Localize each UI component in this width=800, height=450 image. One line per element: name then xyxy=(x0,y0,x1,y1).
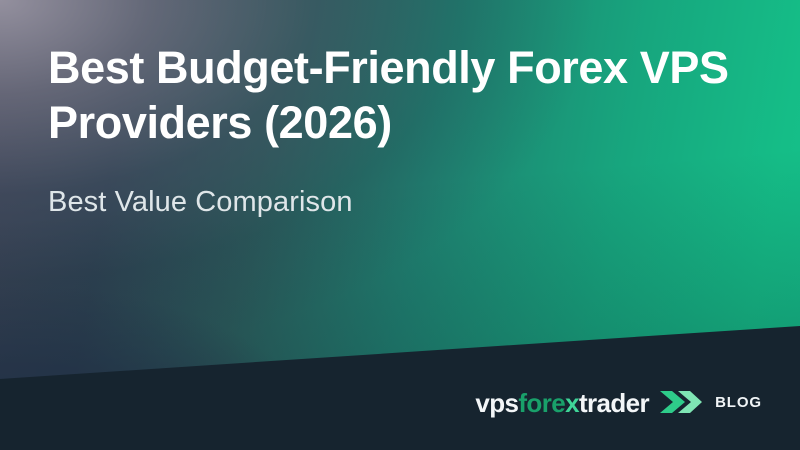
wordmark-fore: fore xyxy=(518,388,565,418)
wordmark-vps: vps xyxy=(475,388,518,418)
page-title: Best Budget-Friendly Forex VPS Providers… xyxy=(48,40,748,150)
wordmark-trader: trader xyxy=(579,388,649,418)
blog-header-banner: Best Budget-Friendly Forex VPS Providers… xyxy=(0,0,800,450)
brand-wordmark: vpsforextrader xyxy=(475,390,649,416)
brand-logo-lockup[interactable]: vpsforextrader BLOG xyxy=(475,389,762,416)
page-subtitle: Best Value Comparison xyxy=(48,150,748,220)
wordmark-x: x xyxy=(565,388,579,418)
blog-label: BLOG xyxy=(715,395,762,410)
banner-text-block: Best Budget-Friendly Forex VPS Providers… xyxy=(48,40,748,220)
double-chevron-right-icon xyxy=(659,389,703,415)
